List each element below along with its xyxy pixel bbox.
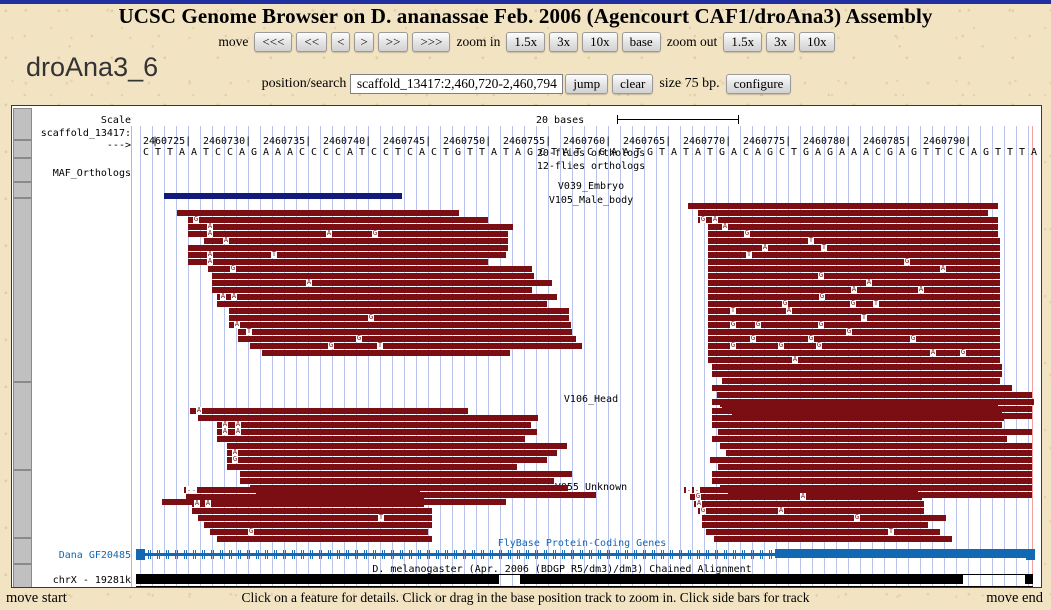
alignment-read[interactable] [720, 443, 1032, 449]
mismatch-base: A [722, 223, 728, 230]
track-label-flybase-genes[interactable]: FlyBase Protein-Coding Genes [372, 538, 792, 549]
footer-hint: Click on a feature for details. Click or… [0, 590, 1051, 606]
mismatch-base: G [960, 349, 966, 356]
zoom-out-1_5x-button[interactable]: 1.5x [723, 32, 762, 52]
base-letter: C [740, 147, 752, 159]
base-letter: A [812, 147, 824, 159]
alignment-read[interactable] [227, 443, 567, 449]
mismatch-base: A [235, 428, 241, 435]
zoom-out-label: zoom out [663, 34, 722, 49]
mismatch-base: A [194, 500, 200, 507]
alignment-read[interactable] [190, 408, 468, 414]
mismatch-base: A [306, 279, 312, 286]
ruler-tick: 2460780| [803, 136, 851, 147]
mismatch-base: T [808, 237, 814, 244]
navigation-toolbar: move<<<<<<>>>>>>zoom in1.5x3x10xbasezoom… [0, 32, 1051, 52]
base-letter: A [176, 147, 188, 159]
mismatch-base: A [851, 286, 857, 293]
base-letter: G [248, 147, 260, 159]
gene-right-cap-icon [1026, 549, 1035, 560]
base-letter: C [212, 147, 224, 159]
gene-exon-block[interactable] [775, 549, 1031, 558]
track-label-v039-embryo: V039_Embryo [441, 181, 741, 192]
base-letter: T [1016, 147, 1028, 159]
mismatch-base: A [762, 244, 768, 251]
mismatch-base: G [248, 528, 254, 535]
alignment-read[interactable] [712, 371, 1002, 377]
mismatch-base: . [686, 486, 692, 493]
mismatch-base: A [786, 307, 792, 314]
alignment-read[interactable] [708, 259, 1000, 265]
jump-button[interactable]: jump [565, 74, 608, 94]
alignment-read[interactable] [208, 266, 532, 272]
chain-block-chrx-1[interactable] [144, 574, 499, 584]
alignment-read[interactable] [188, 224, 513, 230]
sidebar-handle-head[interactable] [13, 382, 32, 470]
mismatch-base: A [800, 493, 806, 500]
alignment-read[interactable] [702, 522, 928, 528]
mismatch-base: G [816, 342, 822, 349]
ruler-tick: 2460755| [503, 136, 551, 147]
mismatch-base: A [207, 251, 213, 258]
alignment-read[interactable] [212, 273, 534, 279]
mismatch-base: G [232, 456, 238, 463]
base-letter: C [380, 147, 392, 159]
mismatch-base: T [861, 314, 867, 321]
chain-gap-chrx [499, 574, 520, 575]
alignment-read[interactable] [229, 322, 571, 328]
mismatch-base: T [730, 307, 736, 314]
sidebar-handle-embryo[interactable] [13, 182, 32, 198]
ruler-tick: 2460765| [623, 136, 671, 147]
base-letter: G [824, 147, 836, 159]
mismatch-base: . [191, 486, 197, 493]
mismatch-base: A [222, 421, 228, 428]
base-letter: C [308, 147, 320, 159]
alignment-read[interactable] [217, 436, 525, 442]
mismatch-base: T [746, 251, 752, 258]
mismatch-base: G [730, 342, 736, 349]
alignment-read[interactable] [204, 522, 432, 528]
right-boundary-marker [1032, 126, 1033, 587]
mismatch-base: G [193, 216, 199, 223]
alignment-read[interactable] [708, 315, 1000, 321]
mismatch-base: T [873, 300, 879, 307]
sidebar-handle-flybase[interactable] [13, 538, 32, 564]
mismatch-base: G [328, 342, 334, 349]
base-letter: C [224, 147, 236, 159]
sidebar-handle-orthologs[interactable] [13, 158, 32, 182]
mismatch-base: G [850, 300, 856, 307]
alignment-read[interactable] [198, 515, 432, 521]
configure-button[interactable]: configure [726, 74, 792, 94]
base-letter: A [1028, 147, 1040, 159]
base-letter: C [296, 147, 308, 159]
alignment-read[interactable] [708, 224, 998, 230]
mismatch-base: G [700, 507, 706, 514]
chain-right-arrow-chrx-icon [1025, 574, 1033, 584]
base-letter: C [140, 147, 152, 159]
ruler-tick: 2460725| [143, 136, 191, 147]
gene-left-cap-icon [136, 549, 145, 560]
move-end-link[interactable]: move end [986, 590, 1043, 607]
base-letter: G [884, 147, 896, 159]
mismatch-base: . [694, 486, 700, 493]
position-ruler[interactable]: |2460725|2460730|2460735|2460740|2460745… [140, 136, 1040, 147]
mismatch-base: G [904, 258, 910, 265]
mismatch-base: G [808, 335, 814, 342]
ruler-tick: 2460745| [383, 136, 431, 147]
alignment-read[interactable] [712, 408, 1002, 414]
base-letter: T [932, 147, 944, 159]
base-letter: T [356, 147, 368, 159]
mismatch-base: G [910, 335, 916, 342]
alignment-read[interactable] [227, 464, 517, 470]
alignment-read[interactable] [712, 422, 1002, 428]
scale-bar-text: 20 bases [536, 115, 584, 126]
mismatch-base: A [235, 421, 241, 428]
base-letter: C [368, 147, 380, 159]
alignment-read[interactable] [726, 450, 1032, 456]
sidebar-handle-unknown[interactable] [13, 470, 32, 538]
track-label-v106-head: V106_Head [441, 394, 741, 405]
alignment-read[interactable] [708, 343, 1000, 349]
mismatch-base: A [930, 349, 936, 356]
mismatch-base: T [271, 251, 277, 258]
alignment-read[interactable] [708, 357, 1000, 363]
base-letter: A [848, 147, 860, 159]
mismatch-base: A [712, 216, 718, 223]
base-letter: T [392, 147, 404, 159]
zoom-in-1_5x-button[interactable]: 1.5x [506, 32, 545, 52]
mismatch-base: G [818, 321, 824, 328]
mismatch-base: T [378, 514, 384, 521]
size-label: size 75 bp. [655, 76, 723, 91]
alignment-read[interactable] [240, 471, 572, 477]
alignment-read[interactable] [210, 529, 428, 535]
mismatch-base: G [818, 272, 824, 279]
mismatch-base: T [377, 342, 383, 349]
sidebar-handle-male-body[interactable] [13, 198, 32, 382]
mismatch-base: G [356, 335, 362, 342]
alignment-read[interactable] [238, 329, 572, 335]
ruler-tick: 2460785| [863, 136, 911, 147]
mismatch-base: A [940, 265, 946, 272]
alignment-read[interactable] [712, 436, 1007, 442]
mismatch-base: G [782, 300, 788, 307]
alignment-read[interactable] [229, 308, 569, 314]
mismatch-base: G [730, 321, 736, 328]
base-letter: A [284, 147, 296, 159]
mismatch-base: A [326, 230, 332, 237]
ruler-tick: 2460735| [263, 136, 311, 147]
alignment-read[interactable] [698, 217, 998, 223]
alignment-read[interactable] [217, 301, 547, 307]
base-letter: G [908, 147, 920, 159]
base-letter: C [776, 147, 788, 159]
alignment-read[interactable] [212, 280, 552, 286]
chrom-label: scaffold_13417: [32, 128, 131, 139]
gene-intron-line [145, 553, 775, 556]
chain-gap-chrx-2 [963, 574, 1032, 575]
mismatch-base: G [230, 265, 236, 272]
mismatch-base: G [854, 514, 860, 521]
track-label-maf-orthologs[interactable]: MAF_Orthologs [32, 168, 131, 179]
alignment-read[interactable] [198, 415, 538, 421]
ruler-tick: 2460775| [743, 136, 791, 147]
base-letter: A [260, 147, 272, 159]
base-letter: T [788, 147, 800, 159]
mismatch-base: G [778, 342, 784, 349]
alignment-read[interactable] [188, 252, 506, 258]
base-letter: C [428, 147, 440, 159]
sidebar-handle-ruler[interactable] [13, 108, 32, 140]
alignment-read[interactable] [227, 450, 557, 456]
alignment-read[interactable] [708, 231, 998, 237]
mismatch-base: A [207, 258, 213, 265]
alignment-read[interactable] [204, 238, 508, 244]
track-label-12-flies-orthologs: 12-flies orthologs [441, 161, 741, 172]
zoom-in-base-button[interactable]: base [622, 32, 661, 52]
alignment-read[interactable] [227, 457, 547, 463]
alignment-read[interactable] [177, 210, 459, 216]
ruler-tick: 2460770| [683, 136, 731, 147]
base-letter: A [416, 147, 428, 159]
base-letter: C [320, 147, 332, 159]
alignment-read[interactable] [712, 364, 1002, 370]
sidebar-handle-sequence[interactable] [13, 140, 32, 158]
alignment-read[interactable] [184, 487, 420, 493]
base-letter: T [152, 147, 164, 159]
mismatch-base: G [372, 230, 378, 237]
zoom-in-label: zoom in [452, 34, 504, 49]
zoom-out-10x-button[interactable]: 10x [799, 32, 835, 52]
mismatch-base: G [368, 314, 374, 321]
chain-label-chrx[interactable]: chrX - 19281k [30, 575, 131, 586]
alignment-read[interactable] [712, 385, 1012, 391]
clear-button[interactable]: clear [612, 74, 653, 94]
base-letter: G [800, 147, 812, 159]
move-button-far-right[interactable]: >>> [412, 32, 450, 52]
scale-bar [617, 115, 739, 124]
alignment-read[interactable] [192, 508, 432, 514]
alignment-read[interactable] [188, 245, 508, 251]
alignment-read[interactable] [212, 287, 532, 293]
mismatch-base: A [866, 279, 872, 286]
alignment-read[interactable] [192, 501, 424, 507]
alignment-read[interactable] [708, 350, 1000, 356]
base-letter: C [872, 147, 884, 159]
alignment-read[interactable] [712, 415, 1004, 421]
mismatch-base: G [695, 493, 701, 500]
base-letter: C [956, 147, 968, 159]
mismatch-base: A [231, 293, 237, 300]
mismatch-base: G [846, 328, 852, 335]
position-search-label: position/search [258, 76, 351, 91]
mismatch-base: A [792, 356, 798, 363]
alignment-read[interactable] [708, 273, 1000, 279]
base-letter: T [920, 147, 932, 159]
alignment-read[interactable] [720, 401, 998, 407]
flybase-gene-name[interactable]: Dana GF20485 [32, 550, 131, 561]
alignment-read[interactable] [240, 478, 554, 484]
alignment-read[interactable] [712, 471, 1032, 477]
move-button-right-1[interactable]: > [354, 32, 373, 52]
mismatch-base: T [888, 528, 894, 535]
alignment-read[interactable] [708, 308, 1000, 314]
scale-label: Scale [32, 115, 131, 126]
mismatch-base: A [220, 293, 226, 300]
alignment-read[interactable] [690, 494, 922, 500]
move-button-right-2[interactable]: >> [378, 32, 409, 52]
zoom-in-10x-button[interactable]: 10x [582, 32, 618, 52]
position-search-input[interactable]: scaffold_13417:2,460,720-2,460,794 [350, 74, 563, 94]
base-letter: A [896, 147, 908, 159]
alignment-read[interactable] [250, 343, 582, 349]
ruler-tick: 2460730| [203, 136, 251, 147]
base-letter: C [404, 147, 416, 159]
zoom-out-3x-button[interactable]: 3x [766, 32, 795, 52]
browser-image-panel[interactable]: Scale 20 bases scaffold_13417: ---> |246… [11, 105, 1042, 588]
move-button-left-2[interactable]: << [296, 32, 327, 52]
track-label-20-flies-orthologs: 20-flies orthologs [441, 148, 741, 159]
alignment-read[interactable] [708, 266, 1000, 272]
position-search-bar: position/searchscaffold_13417:2,460,720-… [0, 74, 1051, 94]
alignment-read[interactable] [188, 231, 508, 237]
alignment-read[interactable] [188, 217, 488, 223]
mismatch-base: G [750, 335, 756, 342]
mismatch-base: T [821, 244, 827, 251]
ruler-tick: 2460790| [923, 136, 971, 147]
chain-left-arrow-chrx-icon [136, 574, 144, 584]
alignment-read[interactable] [718, 429, 1032, 435]
base-letter: A [860, 147, 872, 159]
alignment-read[interactable] [712, 478, 1032, 484]
base-letter: A [968, 147, 980, 159]
footer-bar: move start Click on a feature for detail… [0, 588, 1051, 610]
consensus-bar[interactable] [164, 193, 402, 199]
move-button-far-left[interactable]: <<< [254, 32, 292, 52]
alignment-read[interactable] [238, 336, 576, 342]
base-letter: C [332, 147, 344, 159]
base-letter: A [272, 147, 284, 159]
base-letter: T [164, 147, 176, 159]
mismatch-base: G [700, 216, 706, 223]
alignment-read[interactable] [698, 508, 924, 514]
base-letter: A [752, 147, 764, 159]
base-letter: A [188, 147, 200, 159]
mismatch-base: G [819, 293, 825, 300]
ruler-tick: 2460750| [443, 136, 491, 147]
alignment-read[interactable] [706, 529, 940, 535]
mismatch-base: A [234, 321, 240, 328]
mismatch-base: A [207, 223, 213, 230]
alignment-read[interactable] [217, 429, 537, 435]
alignment-read[interactable] [688, 203, 998, 209]
base-letter: A [836, 147, 848, 159]
ruler-tick: 2460760| [563, 136, 611, 147]
left-boundary-marker [131, 126, 132, 587]
base-letter: G [980, 147, 992, 159]
base-letter: A [236, 147, 248, 159]
alignment-read[interactable] [718, 464, 1032, 470]
chain-block-chrx-2[interactable] [520, 574, 963, 584]
mismatch-base: A [205, 500, 211, 507]
base-letter: T [1004, 147, 1016, 159]
alignment-read[interactable] [708, 238, 1000, 244]
mismatch-base: A [232, 449, 238, 456]
base-letter: T [992, 147, 1004, 159]
ruler-tick: 2460740| [323, 136, 371, 147]
alignment-read[interactable] [722, 378, 1000, 384]
tracks-container: Scale 20 bases scaffold_13417: ---> |246… [12, 106, 1041, 587]
mismatch-base: A [918, 286, 924, 293]
page-title: UCSC Genome Browser on D. ananassae Feb.… [0, 4, 1051, 29]
mismatch-base: G [755, 321, 761, 328]
move-button-left-1[interactable]: < [331, 32, 350, 52]
alignment-read[interactable] [717, 392, 1032, 398]
zoom-in-3x-button[interactable]: 3x [549, 32, 578, 52]
alignment-read[interactable] [186, 494, 424, 500]
alignment-read[interactable] [229, 315, 569, 321]
base-letter: G [764, 147, 776, 159]
alignment-read[interactable] [217, 422, 531, 428]
mismatch-base: A [222, 428, 228, 435]
mismatch-base: A [207, 230, 213, 237]
alignment-read[interactable] [710, 457, 1032, 463]
alignment-read[interactable] [708, 322, 1000, 328]
strand-label: ---> [32, 140, 131, 151]
mismatch-base: A [696, 500, 702, 507]
base-letter: C [944, 147, 956, 159]
mismatch-base: G [744, 230, 750, 237]
mismatch-base: T [246, 328, 252, 335]
base-letter: T [200, 147, 212, 159]
mismatch-base: A [196, 407, 202, 414]
alignment-read[interactable] [694, 501, 924, 507]
alignment-read[interactable] [698, 210, 988, 216]
alignment-read[interactable] [702, 515, 946, 521]
alignment-read[interactable] [262, 350, 510, 356]
move-label: move [214, 34, 252, 49]
base-letter: A [344, 147, 356, 159]
mismatch-base: A [223, 237, 229, 244]
alignment-read[interactable] [217, 294, 557, 300]
mismatch-base: A [778, 507, 784, 514]
